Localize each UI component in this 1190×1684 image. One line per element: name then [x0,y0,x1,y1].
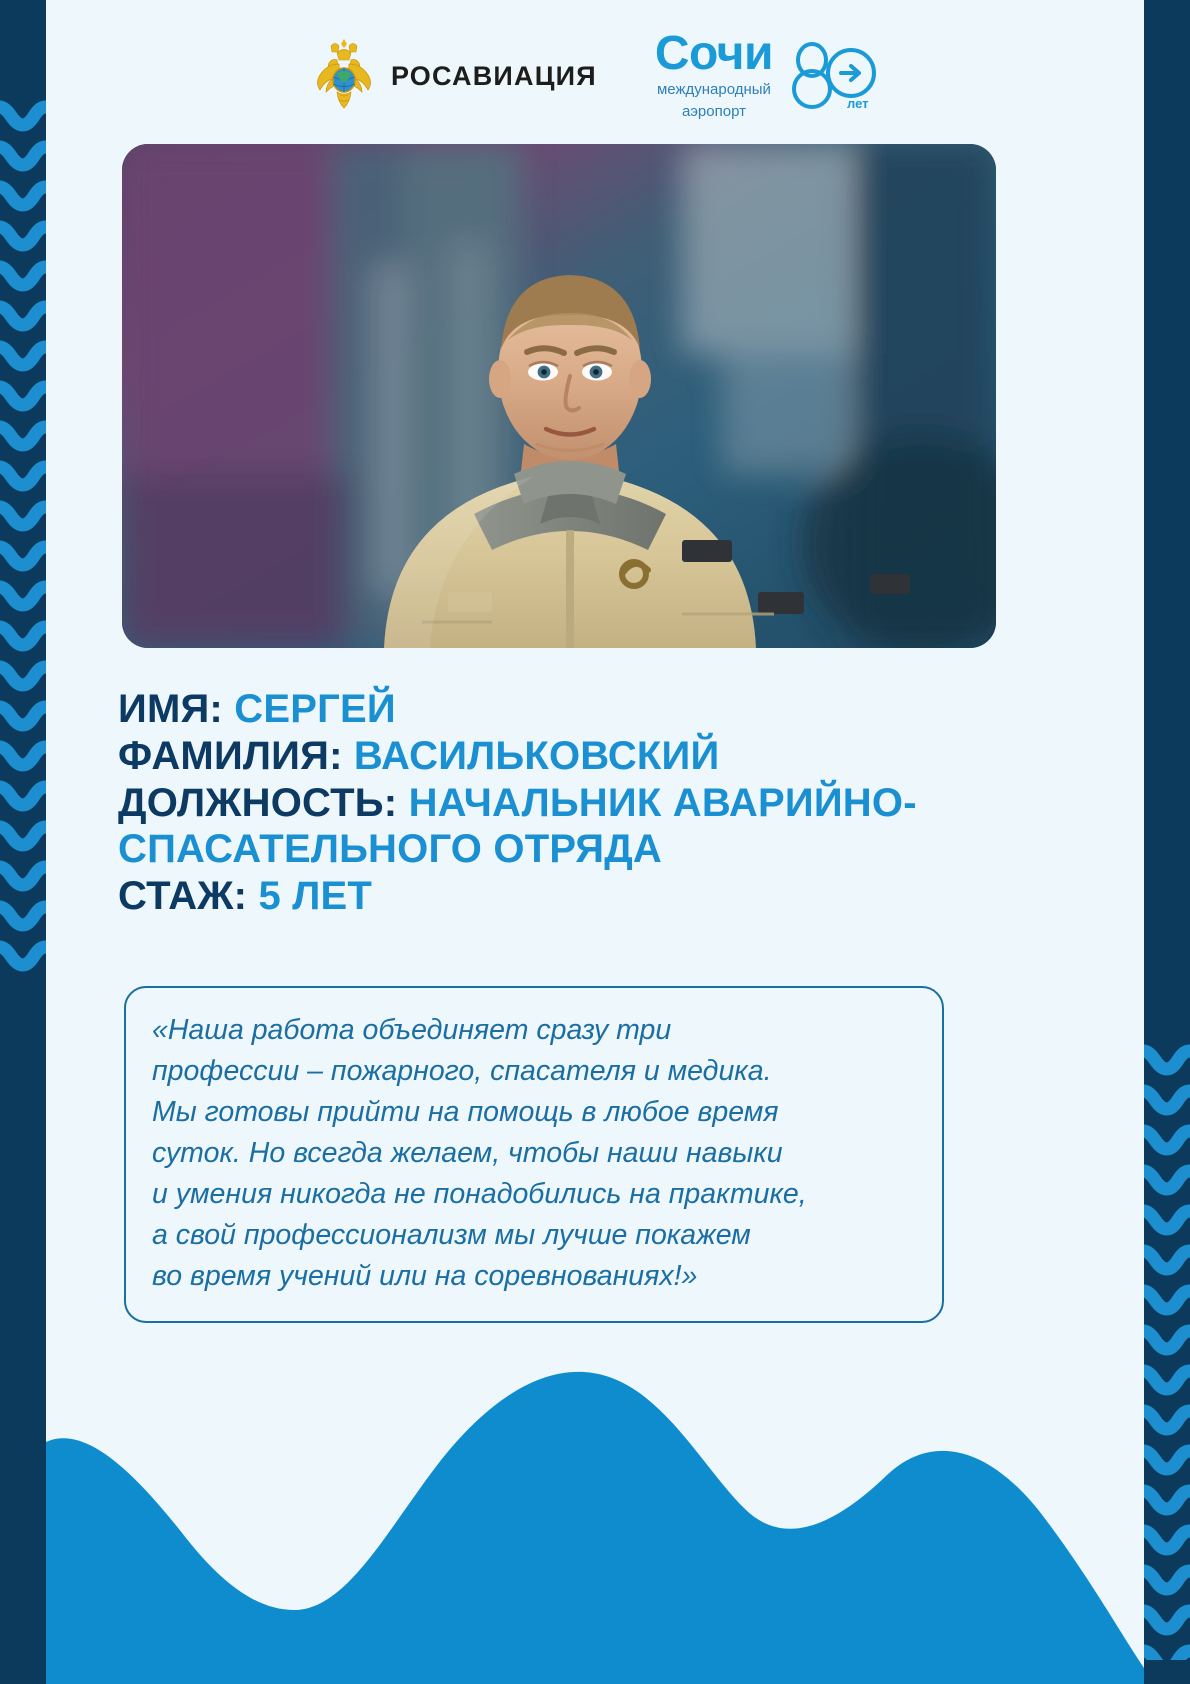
rosaviatsia-logo: РОСАВИАЦИЯ [313,37,597,115]
info-row-surname: ФАМИЛИЯ: ВАСИЛЬКОВСКИЙ [118,733,1078,780]
anniversary-label-text: лет [847,96,869,111]
portrait-photo-graphic [122,144,996,648]
quote-line-1: «Наша работа объединяет сразу три [152,1010,916,1051]
poster-root: РОСАВИАЦИЯ Сочи международный аэропорт [0,0,1190,1684]
rosaviatsia-wordmark: РОСАВИАЦИЯ [391,61,597,92]
quote-line-5: и умения никогда не понадобились на прак… [152,1174,916,1215]
experience-value: 5 ЛЕТ [259,874,373,918]
double-headed-eagle-emblem-icon [313,37,375,115]
sochi-subtitle-line1: международный [655,81,773,100]
person-info-block: ИМЯ: СЕРГЕЙ ФАМИЛИЯ: ВАСИЛЬКОВСКИЙ ДОЛЖН… [118,686,1078,920]
quote-line-3: Мы готовы прийти на помощь в любое время [152,1092,916,1133]
info-row-position: ДОЛЖНОСТЬ: НАЧАЛЬНИК АВАРИЙНО-СПАСАТЕЛЬН… [118,780,1078,874]
sochi-subtitle-line2: аэропорт [655,103,773,122]
left-rail-wave-pattern [0,96,46,976]
surname-value: ВАСИЛЬКОВСКИЙ [354,734,720,778]
quote-line-2: профессии – пожарного, спасателя и медик… [152,1051,916,1092]
content-card: РОСАВИАЦИЯ Сочи международный аэропорт [46,0,1144,1684]
name-value: СЕРГЕЙ [234,687,396,731]
surname-label: ФАМИЛИЯ: [118,734,343,778]
portrait-photo [122,144,996,648]
dark-corner-block [0,1324,46,1684]
info-row-experience: СТАЖ: 5 ЛЕТ [118,873,1078,920]
bottom-wave-decoration [46,1324,1144,1684]
info-row-name: ИМЯ: СЕРГЕЙ [118,686,1078,733]
experience-label: СТАЖ: [118,874,247,918]
header-logos: РОСАВИАЦИЯ Сочи международный аэропорт [46,26,1144,126]
80-years-anniversary-icon: лет [785,39,877,113]
quote-line-7: во время учений или на соревнованиях!» [152,1256,916,1297]
position-label: ДОЛЖНОСТЬ: [118,781,397,825]
sochi-airport-logo: Сочи международный аэропорт лет [655,30,877,122]
quote-text: «Наша работа объединяет сразу три профес… [152,1010,916,1297]
quote-box: «Наша работа объединяет сразу три профес… [124,986,944,1323]
sochi-title: Сочи [655,30,773,78]
name-label: ИМЯ: [118,687,223,731]
quote-line-6: а свой профессионализм мы лучше покажем [152,1215,916,1256]
right-rail-wave-pattern [1144,1040,1190,1660]
sochi-text-block: Сочи международный аэропорт [655,30,773,122]
quote-line-4: суток. Но всегда желаем, чтобы наши навы… [152,1133,916,1174]
